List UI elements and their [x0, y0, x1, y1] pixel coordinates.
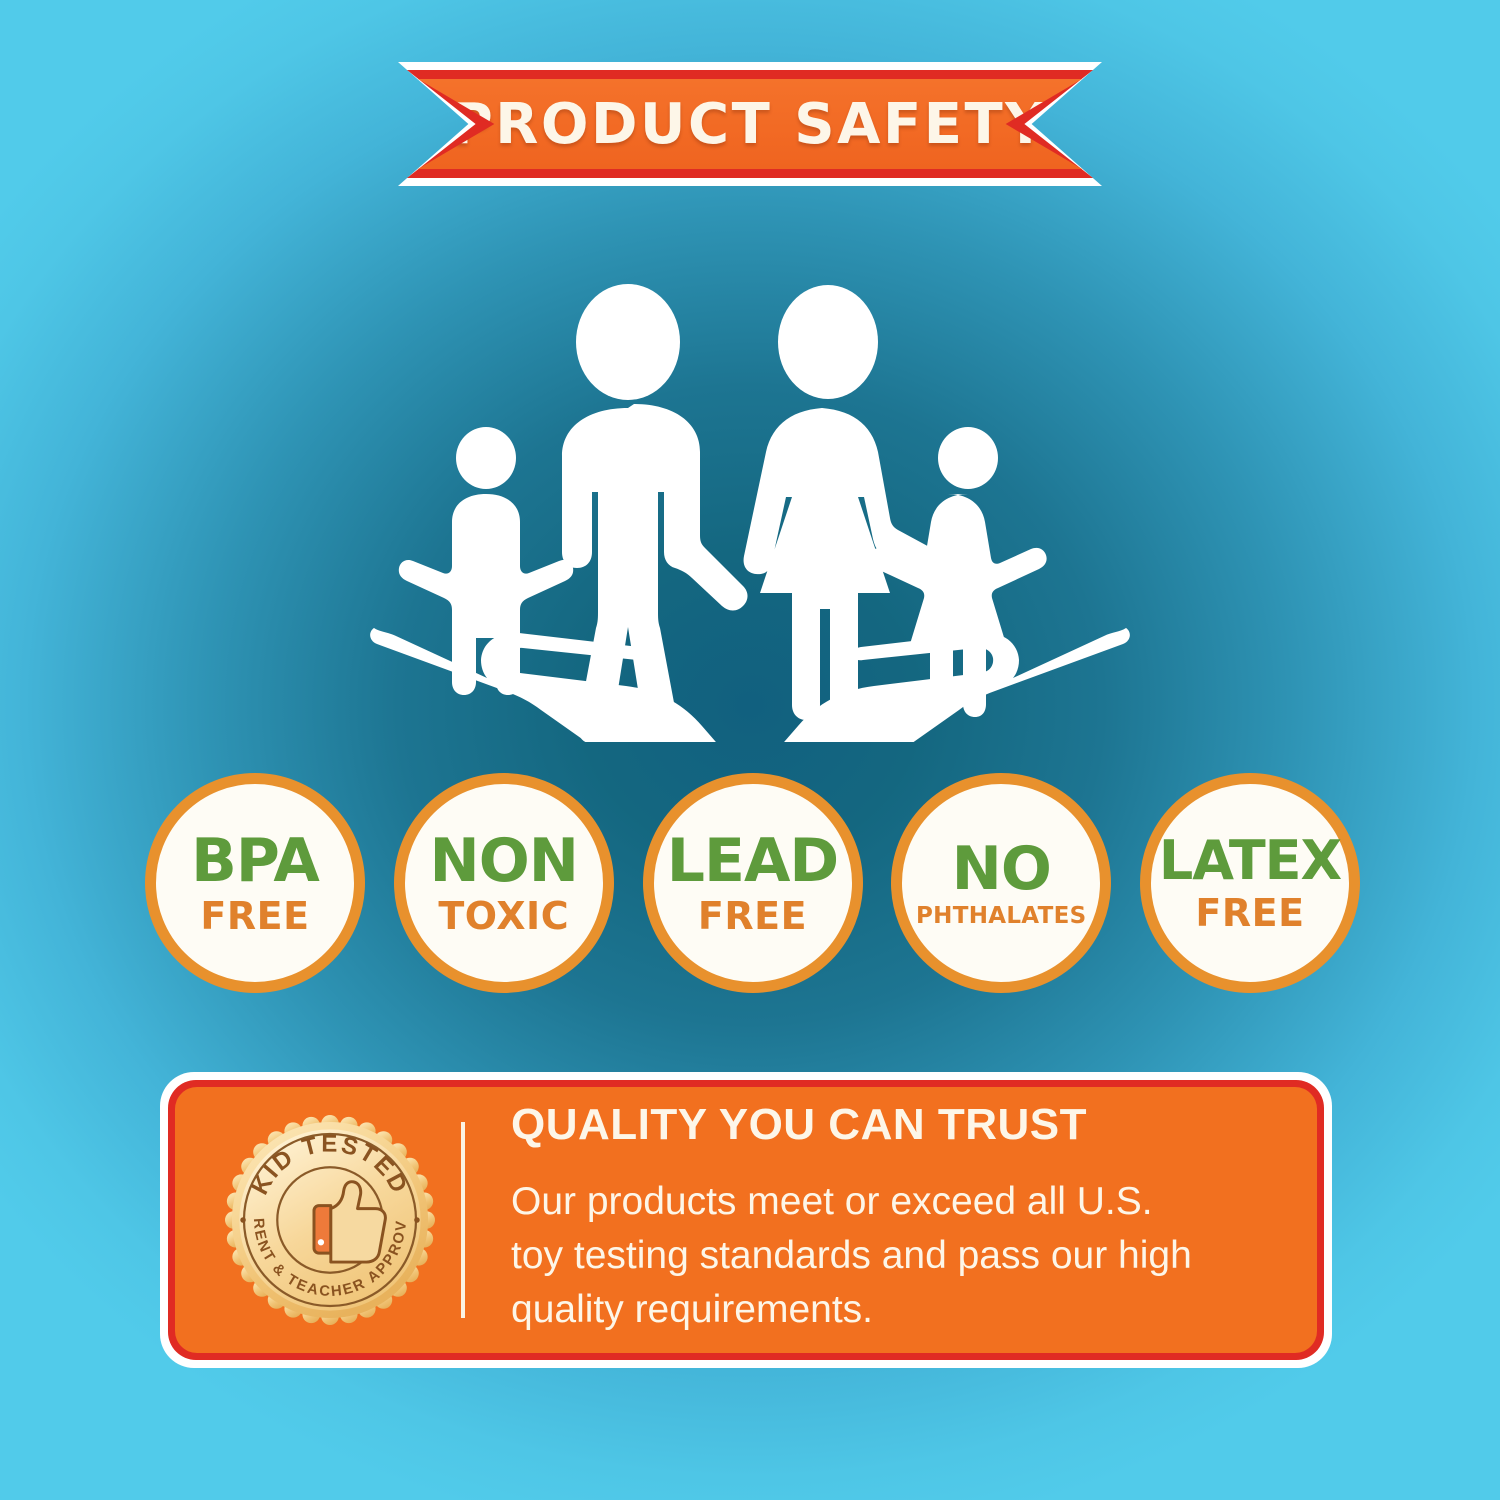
cupped-hand-left — [370, 628, 742, 742]
quality-trust-panel: KID TESTED PARENT & TEACHER APPROVED — [160, 1072, 1332, 1368]
kid-tested-seal: KID TESTED PARENT & TEACHER APPROVED — [199, 1109, 461, 1331]
badge-latex-free: LATEX FREE — [1140, 773, 1360, 993]
badge-bottom-label: FREE — [698, 897, 807, 935]
panel-divider — [461, 1122, 465, 1318]
badge-top-label: BPA — [191, 831, 319, 891]
page-title: PRODUCT SAFETY — [452, 92, 1048, 157]
badge-no-phthalates: NO PHTHALATES — [891, 773, 1111, 993]
seal-right-dot — [414, 1217, 420, 1223]
badge-top-label: LEAD — [667, 831, 838, 891]
mother-figure — [744, 285, 956, 720]
safety-badge-row: BPA FREE NON TOXIC LEAD FREE NO PHTHALAT… — [145, 772, 1360, 994]
badge-bottom-label: FREE — [1195, 894, 1304, 932]
panel-orange-fill: KID TESTED PARENT & TEACHER APPROVED — [175, 1087, 1317, 1353]
badge-bottom-label: FREE — [200, 897, 309, 935]
panel-body-text: Our products meet or exceed all U.S. toy… — [511, 1175, 1201, 1336]
badge-top-label: NON — [430, 831, 578, 891]
product-safety-banner: PRODUCT SAFETY — [398, 62, 1102, 186]
panel-text-block: QUALITY YOU CAN TRUST Our products meet … — [511, 1103, 1317, 1336]
badge-bottom-label: TOXIC — [438, 897, 569, 935]
badge-non-toxic: NON TOXIC — [394, 773, 614, 993]
badge-lead-free: LEAD FREE — [643, 773, 863, 993]
badge-bpa-free: BPA FREE — [145, 773, 365, 993]
father-figure — [562, 284, 748, 742]
child-girl-figure — [869, 427, 1046, 717]
banner-orange-fill: PRODUCT SAFETY — [418, 79, 1082, 169]
badge-bottom-label: PHTHALATES — [916, 905, 1086, 928]
panel-heading: QUALITY YOU CAN TRUST — [511, 1103, 1317, 1147]
family-in-hands-icon — [370, 262, 1130, 742]
product-safety-infographic: PRODUCT SAFETY — [0, 0, 1500, 1500]
seal-left-dot — [240, 1217, 246, 1223]
badge-top-label: NO — [952, 839, 1051, 899]
badge-top-label: LATEX — [1159, 834, 1341, 888]
